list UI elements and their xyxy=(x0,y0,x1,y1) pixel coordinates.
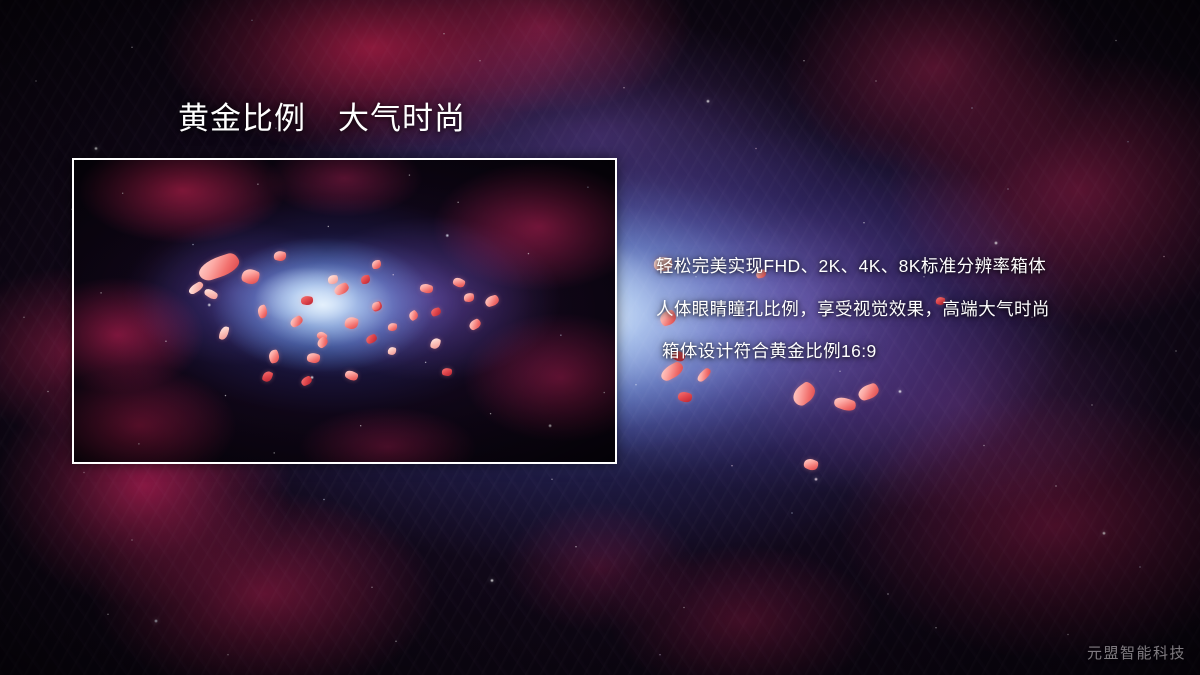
rose-petal xyxy=(441,367,453,377)
rose-petal xyxy=(203,287,219,302)
rose-petal xyxy=(833,395,858,414)
feature-description-block: 轻松完美实现FHD、2K、4K、8K标准分辨率箱体 人体眼睛瞳孔比例，享受视觉效… xyxy=(656,258,1176,361)
rose-petal xyxy=(372,302,380,310)
description-line-2: 人体眼睛瞳孔比例，享受视觉效果，高端大气时尚 xyxy=(656,301,1176,319)
screen-nebula-core xyxy=(74,160,615,462)
rose-petal xyxy=(301,295,314,306)
screen-nebula-crimson xyxy=(74,160,615,462)
rose-petal xyxy=(316,336,330,350)
rose-petal xyxy=(261,370,274,384)
rose-petal xyxy=(257,304,269,319)
page-title: 黄金比例 大气时尚 xyxy=(178,100,466,137)
rose-petal xyxy=(365,334,378,345)
rose-petal xyxy=(273,249,287,262)
rose-petal xyxy=(300,376,313,388)
description-line-1: 轻松完美实现FHD、2K、4K、8K标准分辨率箱体 xyxy=(656,258,1176,276)
rose-petal xyxy=(196,251,242,283)
screen-nebula-violet xyxy=(74,160,615,462)
rose-petal xyxy=(187,280,205,295)
rose-petal xyxy=(372,260,381,269)
rose-petal xyxy=(343,369,359,383)
screen-starfield xyxy=(74,160,615,462)
rose-petal xyxy=(343,315,360,331)
rose-petal xyxy=(218,325,230,341)
rose-petal xyxy=(316,330,329,343)
rose-petal xyxy=(371,301,383,312)
rose-petal xyxy=(789,379,819,408)
rose-petal xyxy=(387,346,397,356)
rose-petal xyxy=(856,382,880,402)
rose-petal xyxy=(430,307,441,317)
presentation-slide: 黄金比例 大气时尚 轻松完美实现FHD、2K、4K、8K标准分辨率箱体 人体眼睛… xyxy=(0,0,1200,675)
rose-petal xyxy=(408,309,420,321)
rose-petal xyxy=(328,274,339,284)
rose-petal xyxy=(463,292,474,302)
rose-petal xyxy=(429,337,442,351)
rose-petal xyxy=(677,389,694,403)
rose-petal xyxy=(695,367,712,383)
rose-petal xyxy=(305,352,320,366)
rose-petal xyxy=(451,275,466,289)
rose-petal xyxy=(332,282,350,297)
description-line-3: 箱体设计符合黄金比例16:9 xyxy=(662,343,1176,361)
rose-petal xyxy=(419,282,434,295)
screen-vignette xyxy=(74,160,615,462)
rose-petal xyxy=(361,275,370,284)
company-watermark: 元盟智能科技 xyxy=(1087,642,1186,663)
rose-petal xyxy=(802,457,819,473)
display-screen-frame[interactable] xyxy=(72,158,617,464)
screen-petal-group xyxy=(74,160,615,462)
rose-petal xyxy=(289,315,305,329)
rose-petal xyxy=(268,349,280,364)
screen-nebula-base xyxy=(74,160,615,462)
rose-petal xyxy=(484,294,500,307)
rose-petal xyxy=(468,318,483,331)
rose-petal xyxy=(239,266,261,287)
rose-petal xyxy=(387,322,397,332)
rose-petal xyxy=(658,360,685,383)
